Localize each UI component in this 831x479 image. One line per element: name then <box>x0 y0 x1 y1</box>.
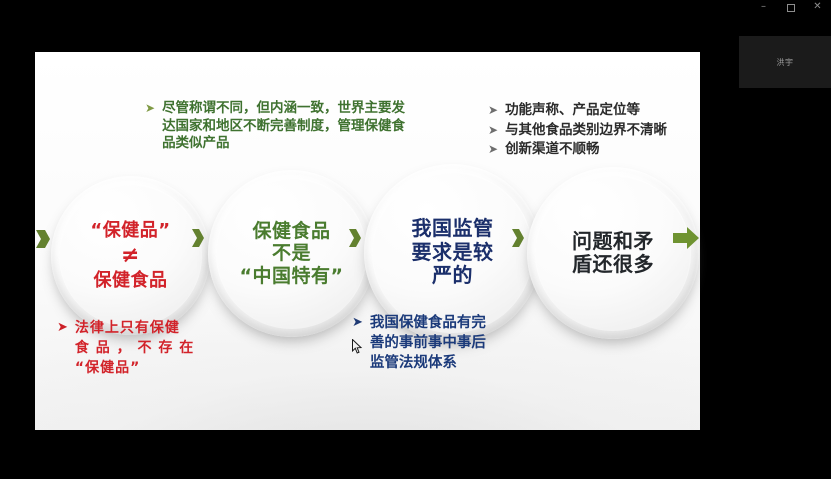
bullet-row: ➤ 法律上只有保健 食 品 ， 不 存 在 “保健品” <box>57 318 272 378</box>
circle-2-line-1: 保健食品 <box>252 220 330 242</box>
circle-2-line-2: 不是 <box>272 242 311 264</box>
bullet-row: ➤ 创新渠道不顺畅 <box>488 141 703 159</box>
connector-arrow-left <box>36 228 50 250</box>
bullet-text: 功能声称、产品定位等 <box>505 102 640 120</box>
circle-1-line-1: “保健品” <box>90 220 170 241</box>
red-line-2: 食 品 ， 不 存 在 <box>75 340 194 356</box>
window-controls: – ✕ <box>750 0 831 16</box>
circle-4-line-1: 问题和矛 <box>572 229 654 253</box>
bullet-row: ➤ 尽管称谓不同，但内涵一致，世界主要发达国家和地区不断完善制度，管理保健食品类… <box>145 100 410 153</box>
callout-text: 法律上只有保健 食 品 ， 不 存 在 “保健品” <box>75 318 194 378</box>
restore-icon <box>787 4 795 12</box>
circle-3-line-3: 严的 <box>432 263 473 287</box>
red-line-1: 法律上只有保健 <box>75 320 180 336</box>
arrow-bullet-icon: ➤ <box>145 100 155 117</box>
bullet-text: 与其他食品类别边界不清晰 <box>505 122 667 140</box>
circle-2-line-3: “中国特有” <box>240 265 344 287</box>
arrow-bullet-icon: ➤ <box>57 318 68 338</box>
red-line-3: “保健品” <box>75 360 140 376</box>
top-left-bullet-block: ➤ 尽管称谓不同，但内涵一致，世界主要发达国家和地区不断完善制度，管理保健食品类… <box>145 100 410 155</box>
bottom-red-callout: ➤ 法律上只有保健 食 品 ， 不 存 在 “保健品” <box>57 318 272 380</box>
arrow-bullet-icon: ➤ <box>488 141 498 158</box>
bullet-row: ➤ 功能声称、产品定位等 <box>488 102 703 120</box>
arrow-bullet-icon: ➤ <box>488 102 498 119</box>
circle-3-line-1: 我国监管 <box>412 216 494 240</box>
circle-1-text: “保健品” ≠ 保健食品 <box>90 220 170 292</box>
restore-button[interactable] <box>777 0 804 16</box>
mouse-cursor-icon <box>352 339 363 359</box>
circle-node-2[interactable]: 保健食品 不是 “中国特有” <box>208 170 375 337</box>
blue-line-1: 我国保健食品有完 <box>370 315 486 331</box>
participant-name-label: 洪宇 <box>777 57 794 68</box>
arrow-bullet-icon: ➤ <box>352 313 363 333</box>
blue-line-2: 善的事前事中事后 <box>370 335 486 351</box>
connector-arrow-3-4 <box>512 228 524 248</box>
participant-video-tile[interactable]: 洪宇 <box>739 36 831 88</box>
circle-4-line-2: 盾还很多 <box>572 252 654 276</box>
connector-arrow-2-3 <box>349 228 361 248</box>
minimize-icon: – <box>761 2 766 12</box>
blue-line-3: 监管法规体系 <box>370 355 457 371</box>
bullet-row: ➤ 与其他食品类别边界不清晰 <box>488 122 703 140</box>
arrow-bullet-icon: ➤ <box>488 122 498 139</box>
bullet-row: ➤ 我国保健食品有完 善的事前事中事后 监管法规体系 <box>352 313 557 373</box>
circle-3-text: 我国监管 要求是较 严的 <box>412 217 494 287</box>
connector-arrow-right <box>672 224 700 252</box>
minimize-button[interactable]: – <box>750 0 777 16</box>
circle-2-text: 保健食品 不是 “中国特有” <box>240 220 344 287</box>
screen-root: – ✕ 洪宇 ➤ 尽管称谓不同，但内涵一致，世界主要发达国家和地区不断完善制度，… <box>0 0 831 479</box>
bullet-text: 尽管称谓不同，但内涵一致，世界主要发达国家和地区不断完善制度，管理保健食品类似产… <box>162 100 410 153</box>
top-right-bullet-block: ➤ 功能声称、产品定位等 ➤ 与其他食品类别边界不清晰 ➤ 创新渠道不顺畅 <box>488 102 703 161</box>
bullet-text: 创新渠道不顺畅 <box>505 141 600 159</box>
circle-node-1[interactable]: “保健品” ≠ 保健食品 <box>51 176 210 335</box>
circle-3-line-2: 要求是较 <box>412 240 494 264</box>
connector-arrow-1-2 <box>192 228 204 248</box>
bottom-blue-callout: ➤ 我国保健食品有完 善的事前事中事后 监管法规体系 <box>352 313 557 375</box>
circle-1-line-2: ≠ <box>90 241 170 271</box>
close-icon: ✕ <box>813 2 821 12</box>
close-button[interactable]: ✕ <box>804 0 831 16</box>
circle-1-line-3: 保健食品 <box>93 270 167 291</box>
callout-text: 我国保健食品有完 善的事前事中事后 监管法规体系 <box>370 313 486 373</box>
circle-4-text: 问题和矛 盾还很多 <box>572 230 654 277</box>
